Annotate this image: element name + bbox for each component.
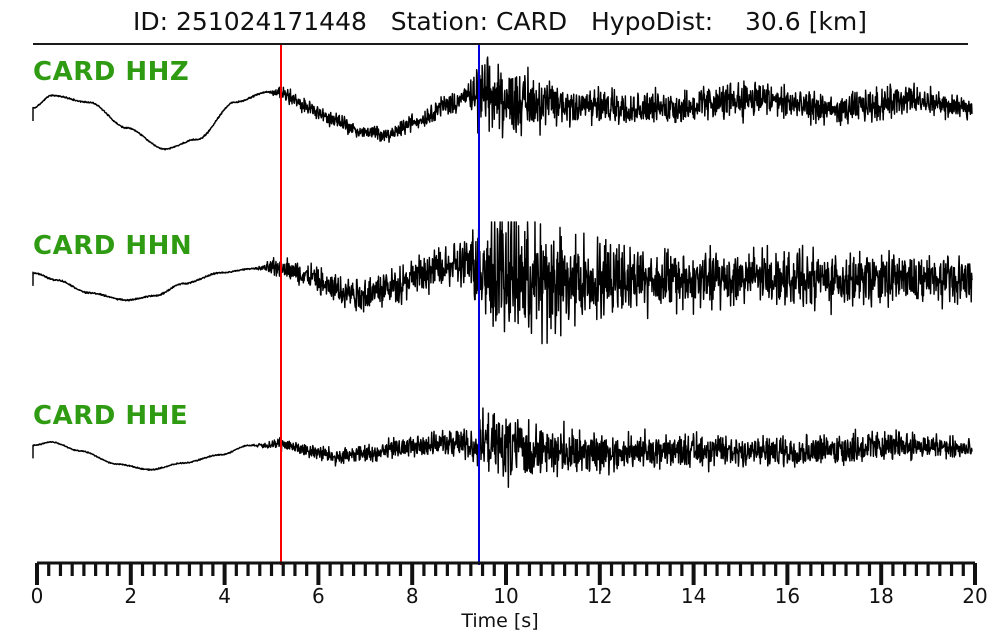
waveform-path bbox=[33, 222, 972, 344]
page-title: ID: 251024171448 Station: CARD HypoDist:… bbox=[133, 7, 867, 36]
seismogram-figure: ID: 251024171448 Station: CARD HypoDist:… bbox=[0, 0, 1000, 640]
axis-tick-label: 0 bbox=[31, 584, 44, 608]
axis-tick-label: 14 bbox=[681, 584, 706, 608]
axis-x-label: Time [s] bbox=[0, 610, 1000, 632]
trace-panel-hhz: CARD HHZ bbox=[0, 45, 1000, 220]
waveform-plot-area: CARD HHZ CARD HHN CARD HHE bbox=[0, 45, 1000, 565]
waveform-hhe bbox=[0, 390, 1000, 565]
figure-title-bar: ID: 251024171448 Station: CARD HypoDist:… bbox=[0, 4, 1000, 38]
trace-panel-hhe: CARD HHE bbox=[0, 390, 1000, 565]
s-pick-line[interactable] bbox=[478, 45, 480, 565]
time-axis: 02468101214161820 Time [s] bbox=[0, 560, 1000, 640]
axis-tick-label: 16 bbox=[775, 584, 800, 608]
waveform-hhz bbox=[0, 45, 1000, 220]
waveform-path bbox=[33, 408, 972, 487]
trace-panel-hhn: CARD HHN bbox=[0, 220, 1000, 390]
axis-tick-label: 18 bbox=[868, 584, 893, 608]
p-pick-line[interactable] bbox=[280, 45, 282, 565]
axis-tick-label: 2 bbox=[124, 584, 137, 608]
axis-tick-label: 12 bbox=[587, 584, 612, 608]
waveform-hhn bbox=[0, 220, 1000, 390]
axis-tick-label: 6 bbox=[312, 584, 325, 608]
axis-tick-label: 20 bbox=[962, 584, 987, 608]
axis-tick-label: 10 bbox=[493, 584, 518, 608]
axis-tick-label: 8 bbox=[406, 584, 419, 608]
waveform-path bbox=[33, 57, 972, 150]
axis-tick-label: 4 bbox=[218, 584, 231, 608]
